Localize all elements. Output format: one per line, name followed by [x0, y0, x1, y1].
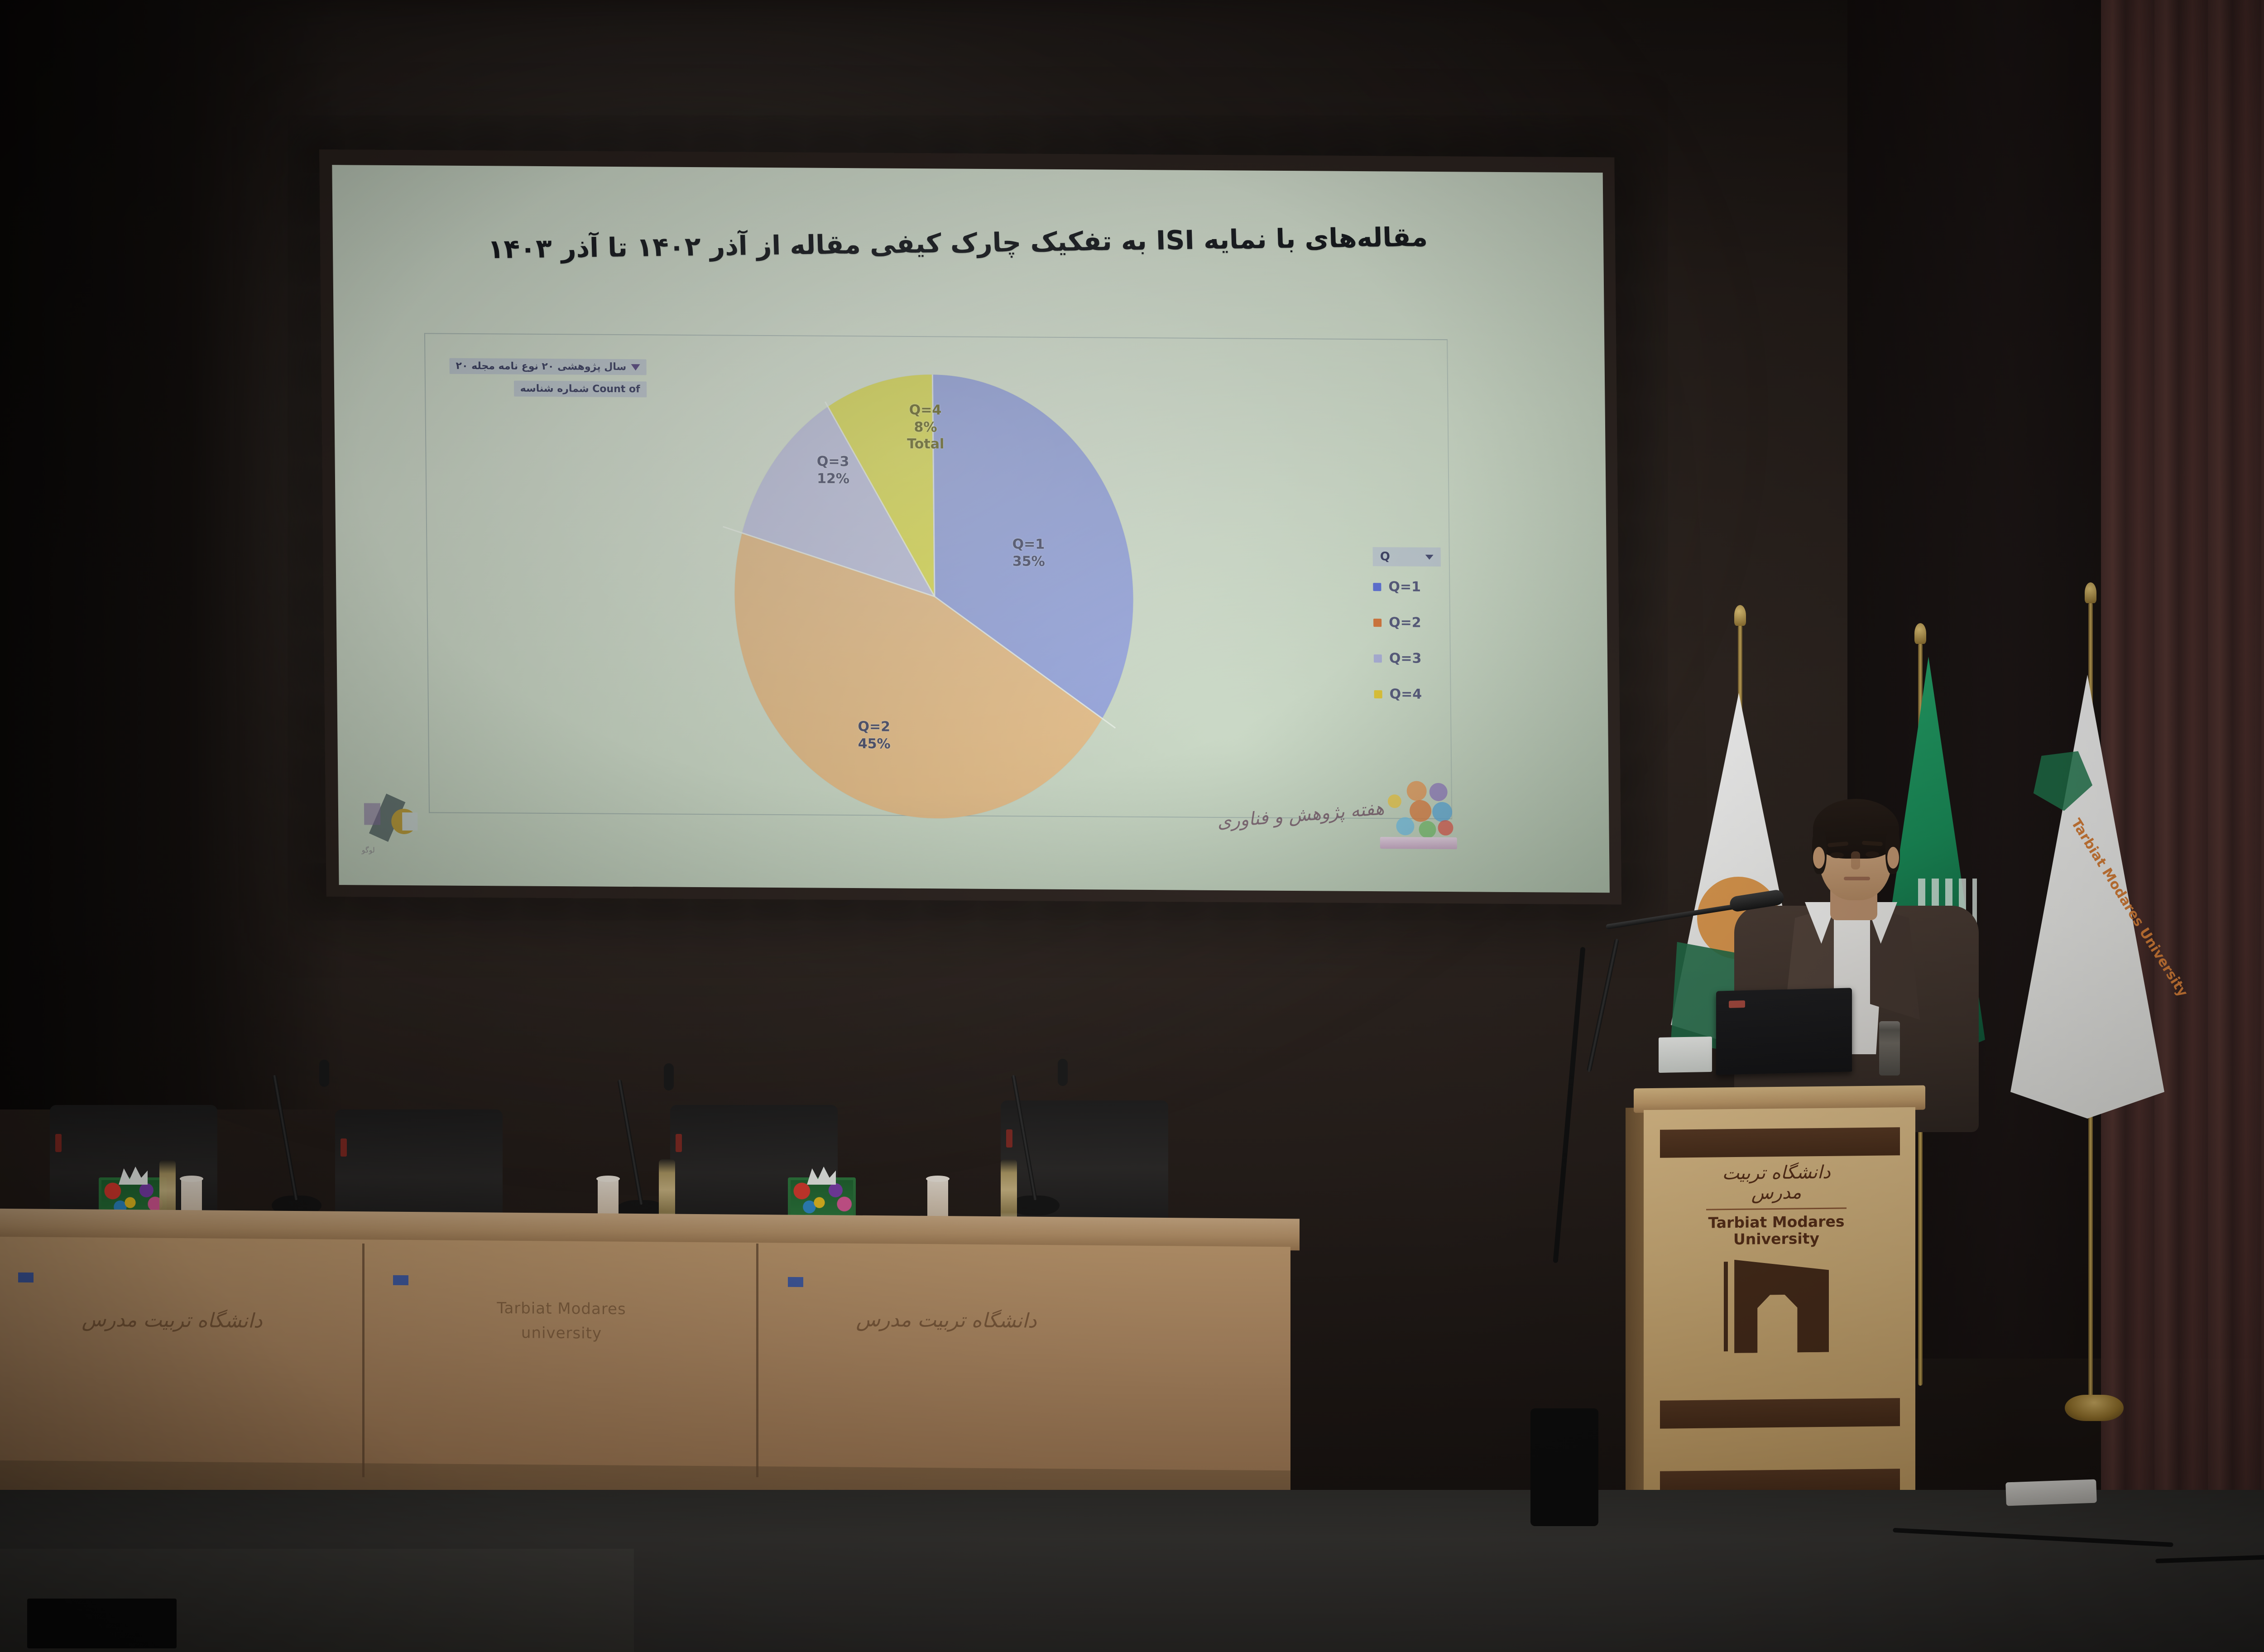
- flagpole-finial: [2085, 582, 2096, 603]
- speaker-eye-right: [1866, 851, 1879, 857]
- legend-item-q3: Q=3: [1374, 650, 1510, 667]
- table-tag: [788, 1277, 803, 1287]
- legend-header-label: Q: [1380, 550, 1390, 563]
- floor-equipment: [27, 1599, 177, 1648]
- organization-logo-caption: لوگو: [362, 845, 375, 854]
- flag-stand-base: [2065, 1395, 2124, 1421]
- laptop-screen-glow: [1729, 1000, 1745, 1008]
- pie-label-q1: Q=1 35%: [988, 536, 1070, 570]
- pie-label-q2: Q=2 45%: [833, 718, 915, 753]
- legend-label-q1: Q=1: [1388, 579, 1421, 595]
- table-tag: [18, 1273, 34, 1282]
- chart-legend: Q Q=1 Q=2 Q=3 Q=4: [1373, 547, 1511, 723]
- conference-stage-photo: مقاله‌های با نمایه ISI به تفکیک چارک کیف…: [0, 0, 2264, 1652]
- speaker-ear-left: [1813, 847, 1825, 869]
- paper-cup-rim: [926, 1176, 950, 1182]
- paper-cup-rim: [596, 1176, 620, 1182]
- legend-item-q2: Q=2: [1373, 615, 1509, 631]
- table-microphone-capsule: [1058, 1059, 1068, 1086]
- chevron-down-icon: [1425, 554, 1434, 559]
- legend-filter-button[interactable]: Q: [1373, 547, 1441, 567]
- podium-decor-band: [1660, 1398, 1900, 1429]
- legend-swatch-q3: [1374, 654, 1382, 663]
- podium-decor-band: [1660, 1127, 1900, 1158]
- table-microphone-capsule: [664, 1063, 674, 1090]
- speaker-ear-right: [1887, 847, 1899, 869]
- research-week-book-logo: [1380, 837, 1457, 849]
- table-panel-divider: [756, 1244, 758, 1477]
- speaker-person: [1716, 783, 1997, 1128]
- pivot-filter-group: سال پژوهشی ۲۰ نوع نامه مجله ۲۰ Count of …: [445, 358, 647, 404]
- projection-screen: مقاله‌های با نمایه ISI به تفکیک چارک کیف…: [319, 149, 1621, 904]
- podium-tissue-box: [1659, 1037, 1712, 1073]
- legend-item-q1: Q=1: [1373, 579, 1509, 595]
- podium-university-name-en-line1: Tarbiat Modares: [1702, 1213, 1851, 1231]
- legend-swatch-q1: [1373, 583, 1381, 591]
- funnel-icon: [631, 364, 640, 370]
- speaker-eye-left: [1830, 852, 1844, 858]
- slide-title: مقاله‌های با نمایه ISI به تفکیک چارک کیف…: [387, 216, 1529, 271]
- stage-curtain-velvet: [2101, 0, 2264, 1652]
- legend-label-q2: Q=2: [1389, 615, 1421, 630]
- podium-university-name-fa: دانشگاه تربیت مدرس: [1702, 1162, 1851, 1203]
- pie-chart: Q=1 35% Q=2 45% Q=3 12% Q=4 8% Total: [733, 374, 1135, 820]
- table-microphone-capsule: [319, 1060, 329, 1087]
- pivot-filter-button-year[interactable]: سال پژوهشی ۲۰ نوع نامه مجله ۲۰: [449, 358, 646, 375]
- paper-cup-rim: [180, 1176, 203, 1182]
- floor-speaker-box: [1530, 1408, 1598, 1526]
- podium-arch-logo: [1724, 1259, 1829, 1353]
- table-front-face: [0, 1237, 1290, 1483]
- wall-shadow-left: [0, 0, 344, 1109]
- table-panel-label-fa-left: دانشگاه تربیت مدرس: [14, 1307, 331, 1333]
- table-tag: [393, 1275, 408, 1285]
- flagpole-finial: [1914, 623, 1926, 644]
- speaker-nose: [1851, 851, 1860, 869]
- legend-swatch-q4: [1374, 690, 1382, 698]
- table-panel-divider: [362, 1244, 365, 1477]
- power-strip: [2005, 1479, 2097, 1506]
- legend-label-q3: Q=3: [1389, 650, 1422, 666]
- speaker-mouth: [1844, 877, 1870, 880]
- legend-label-q4: Q=4: [1389, 686, 1422, 702]
- podium-rule: [1706, 1207, 1847, 1210]
- pivot-filter-label-1: سال پژوهشی ۲۰ نوع نامه مجله ۲۰: [456, 360, 626, 373]
- pivot-filter-button-count[interactable]: Count of شماره شناسه: [514, 381, 647, 398]
- table-panel-label-en-line2: university: [394, 1323, 729, 1344]
- podium-university-name-en-line2: University: [1702, 1230, 1851, 1248]
- podium-university-mark: دانشگاه تربیت مدرس Tarbiat Modares Unive…: [1702, 1162, 1851, 1353]
- legend-swatch-q2: [1373, 619, 1381, 627]
- pie-label-q4: Q=4 8% Total: [884, 402, 966, 453]
- table-panel-label-en-line1: Tarbiat Modares: [394, 1298, 729, 1319]
- legend-item-q4: Q=4: [1374, 686, 1510, 703]
- organization-logo: لوگو: [363, 792, 418, 847]
- pivot-filter-label-2: Count of شماره شناسه: [520, 383, 640, 395]
- presenter-laptop[interactable]: [1716, 988, 1852, 1075]
- pie-label-q3: Q=3 12%: [794, 453, 872, 487]
- table-panel-label-fa-right: دانشگاه تربیت مدرس: [783, 1307, 1109, 1333]
- spray-can: [1879, 1021, 1900, 1076]
- projected-slide: مقاله‌های با نمایه ISI به تفکیک چارک کیف…: [332, 165, 1610, 893]
- flagpole-finial: [1734, 605, 1746, 626]
